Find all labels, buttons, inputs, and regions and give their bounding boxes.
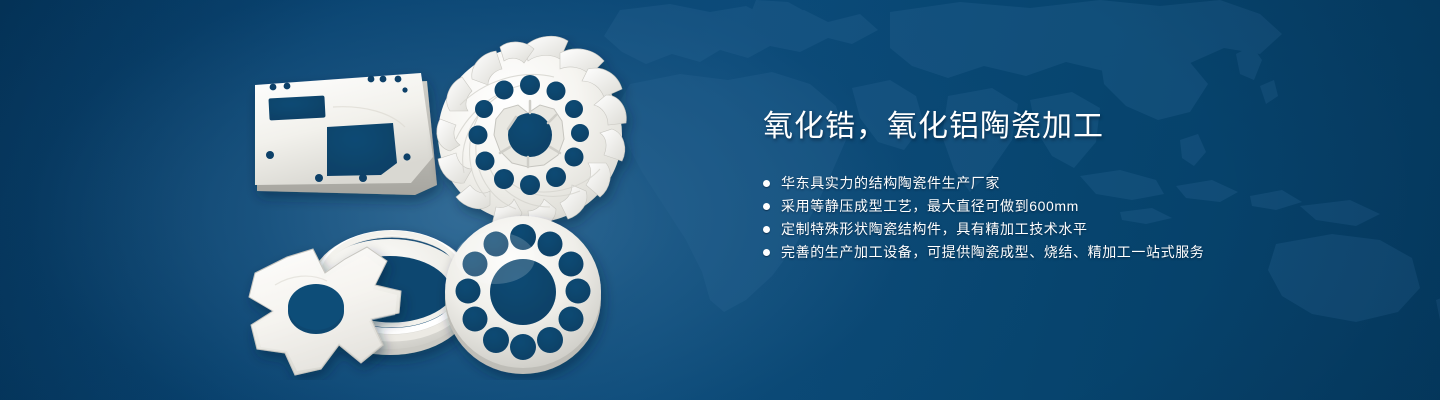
list-item: 完善的生产加工设备，可提供陶瓷成型、烧结、精加工一站式服务 <box>763 241 1363 264</box>
feature-text: 完善的生产加工设备，可提供陶瓷成型、烧结、精加工一站式服务 <box>781 242 1204 262</box>
feature-list: 华东具实力的结构陶瓷件生产厂家 采用等静压成型工艺，最大直径可做到600mm 定… <box>763 172 1363 264</box>
hero-banner: 氧化锆，氧化铝陶瓷加工 华东具实力的结构陶瓷件生产厂家 采用等静压成型工艺，最大… <box>0 0 1440 400</box>
page-title: 氧化锆，氧化铝陶瓷加工 <box>763 108 1363 146</box>
bullet-dot-icon <box>763 203 770 210</box>
feature-text: 采用等静压成型工艺，最大直径可做到600mm <box>781 196 1079 216</box>
list-item: 定制特殊形状陶瓷结构件，具有精加工技术水平 <box>763 218 1363 241</box>
bullet-dot-icon <box>763 226 770 233</box>
bullet-dot-icon <box>763 180 770 187</box>
feature-text: 华东具实力的结构陶瓷件生产厂家 <box>781 173 1000 193</box>
list-item: 华东具实力的结构陶瓷件生产厂家 <box>763 172 1363 195</box>
part-ceramic-plate <box>255 73 437 195</box>
list-item: 采用等静压成型工艺，最大直径可做到600mm <box>763 195 1363 218</box>
ceramic-parts-photo <box>215 35 735 380</box>
part-ceramic-impeller <box>437 36 626 229</box>
feature-text: 定制特殊形状陶瓷结构件，具有精加工技术水平 <box>781 219 1088 239</box>
banner-copy: 氧化锆，氧化铝陶瓷加工 华东具实力的结构陶瓷件生产厂家 采用等静压成型工艺，最大… <box>763 108 1363 264</box>
part-ceramic-perforated-disc <box>445 216 601 374</box>
bullet-dot-icon <box>763 249 770 256</box>
